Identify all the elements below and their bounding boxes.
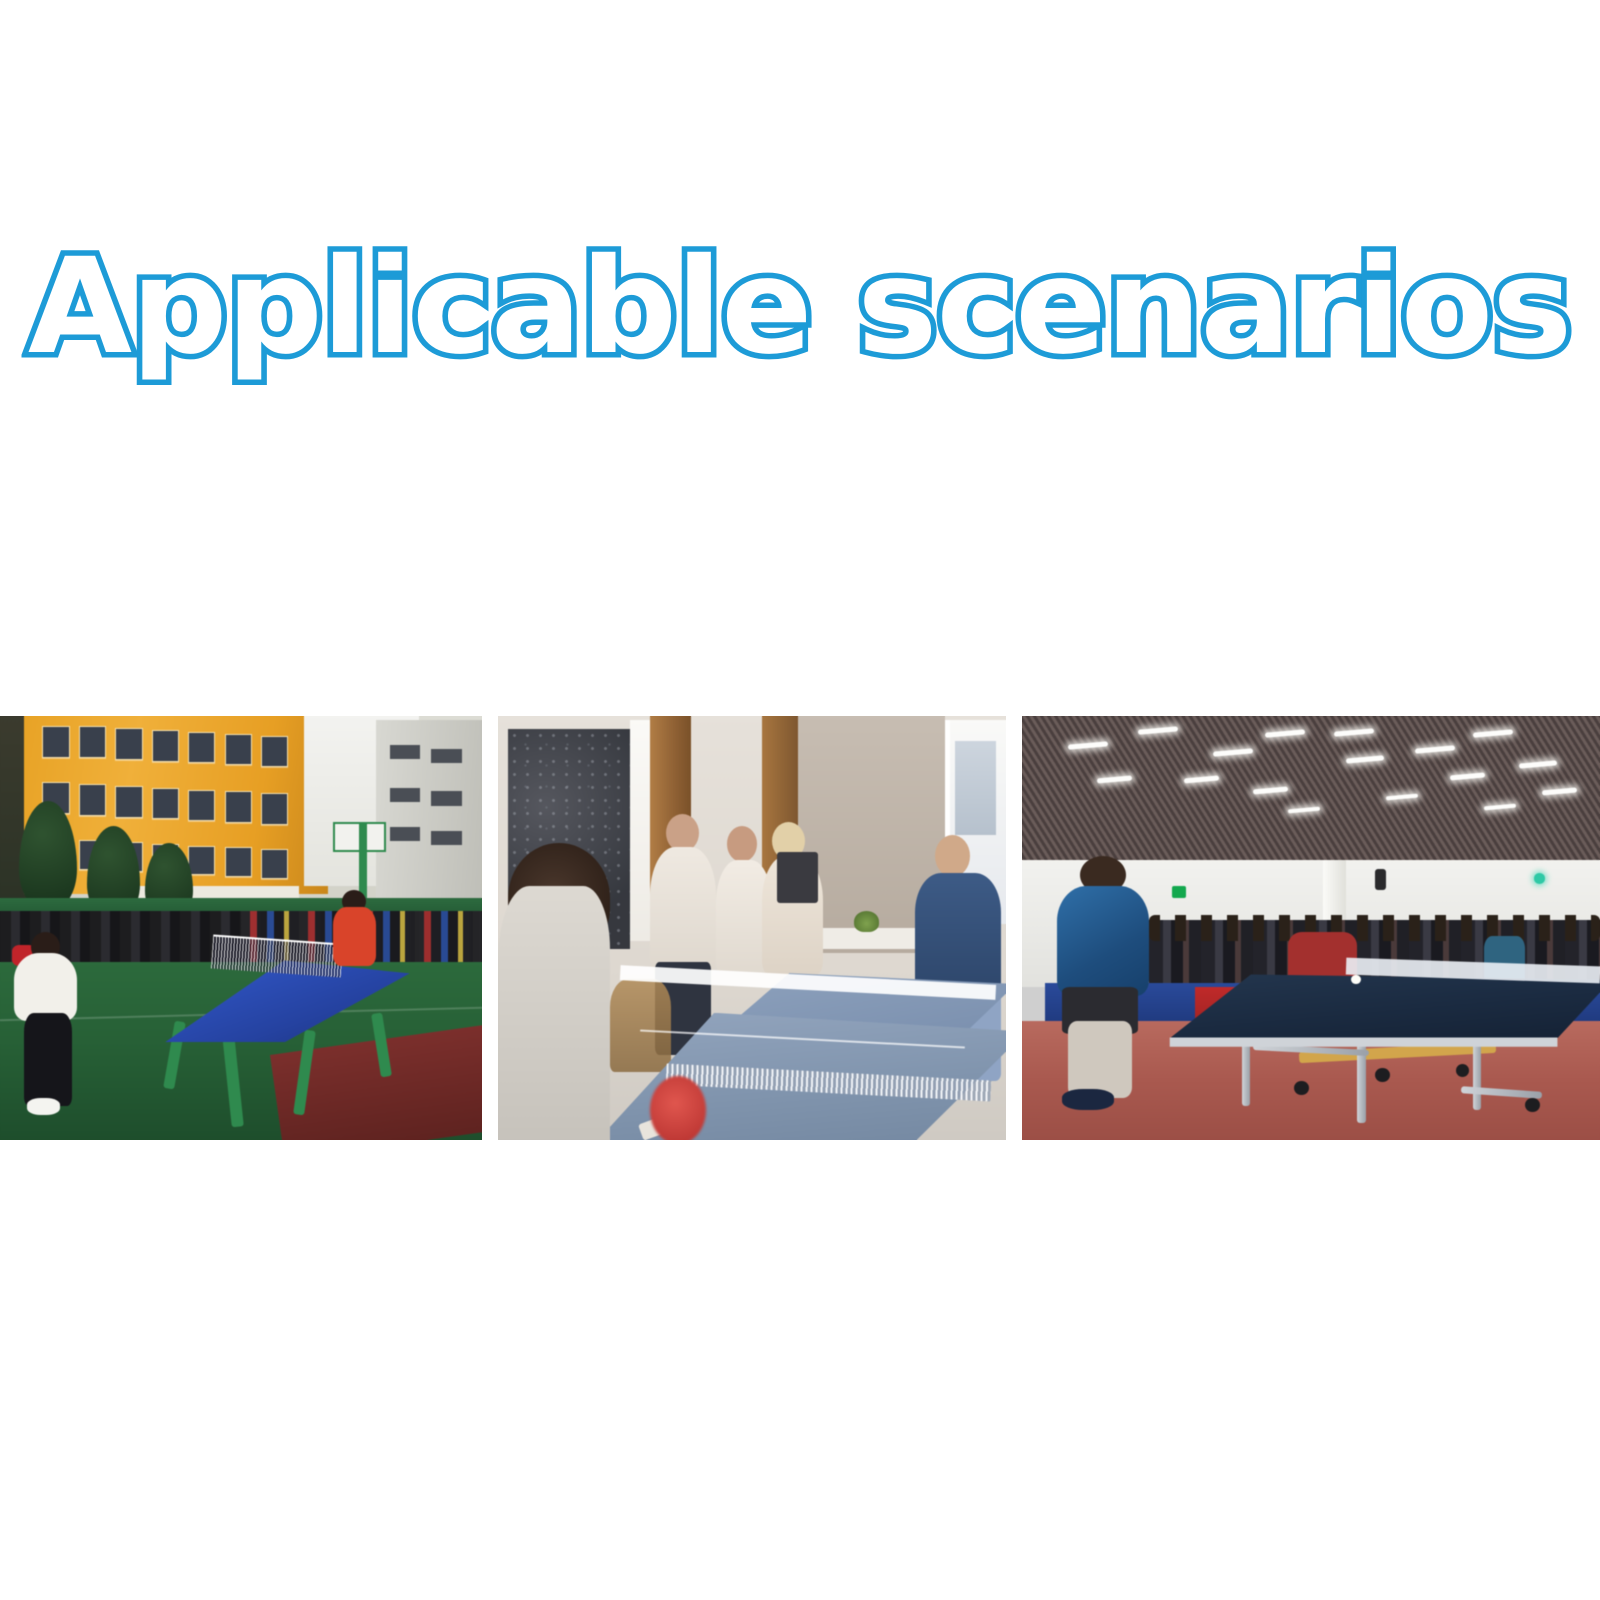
front-player-body	[498, 886, 610, 1140]
exit-sign-icon	[1172, 886, 1186, 899]
photo-indoor-tournament-hall	[1022, 716, 1600, 1140]
chair	[610, 979, 671, 1072]
page-title: Applicable scenarios	[28, 241, 1571, 373]
player-shoe	[27, 1098, 61, 1115]
banner-page: Applicable scenarios	[0, 0, 1600, 1600]
player-white-jacket	[14, 953, 77, 1021]
opponent-orange-jacket	[333, 907, 376, 966]
scenario-photo-gallery	[0, 716, 1600, 1140]
spectator-head	[666, 814, 699, 852]
potted-plant	[854, 911, 879, 932]
photo-outdoor-schoolyard	[0, 716, 482, 1140]
tablet-device	[777, 852, 818, 903]
page-title-block: Applicable scenarios	[0, 232, 1600, 382]
ping-pong-ball	[1351, 975, 1360, 984]
photo-indoor-office-lounge	[498, 716, 1006, 1140]
spectator-heads	[1149, 915, 1600, 940]
spectator-head	[727, 826, 757, 862]
table-wheel	[1375, 1068, 1390, 1082]
grid-ceiling	[1022, 716, 1600, 869]
speaker-icon	[1375, 869, 1387, 890]
player-blue-shirt	[1057, 886, 1149, 996]
red-ping-pong-paddle	[650, 1076, 706, 1140]
window-pane	[955, 741, 996, 834]
player-black-trousers	[24, 1013, 72, 1106]
table-wheel	[1294, 1081, 1309, 1095]
spectator-shirt	[650, 847, 716, 974]
green-indicator-icon	[1534, 873, 1546, 884]
player-legs	[1068, 1021, 1132, 1097]
player-shoe	[1062, 1089, 1114, 1110]
table-wheel	[1525, 1098, 1540, 1112]
grey-building	[376, 720, 482, 898]
